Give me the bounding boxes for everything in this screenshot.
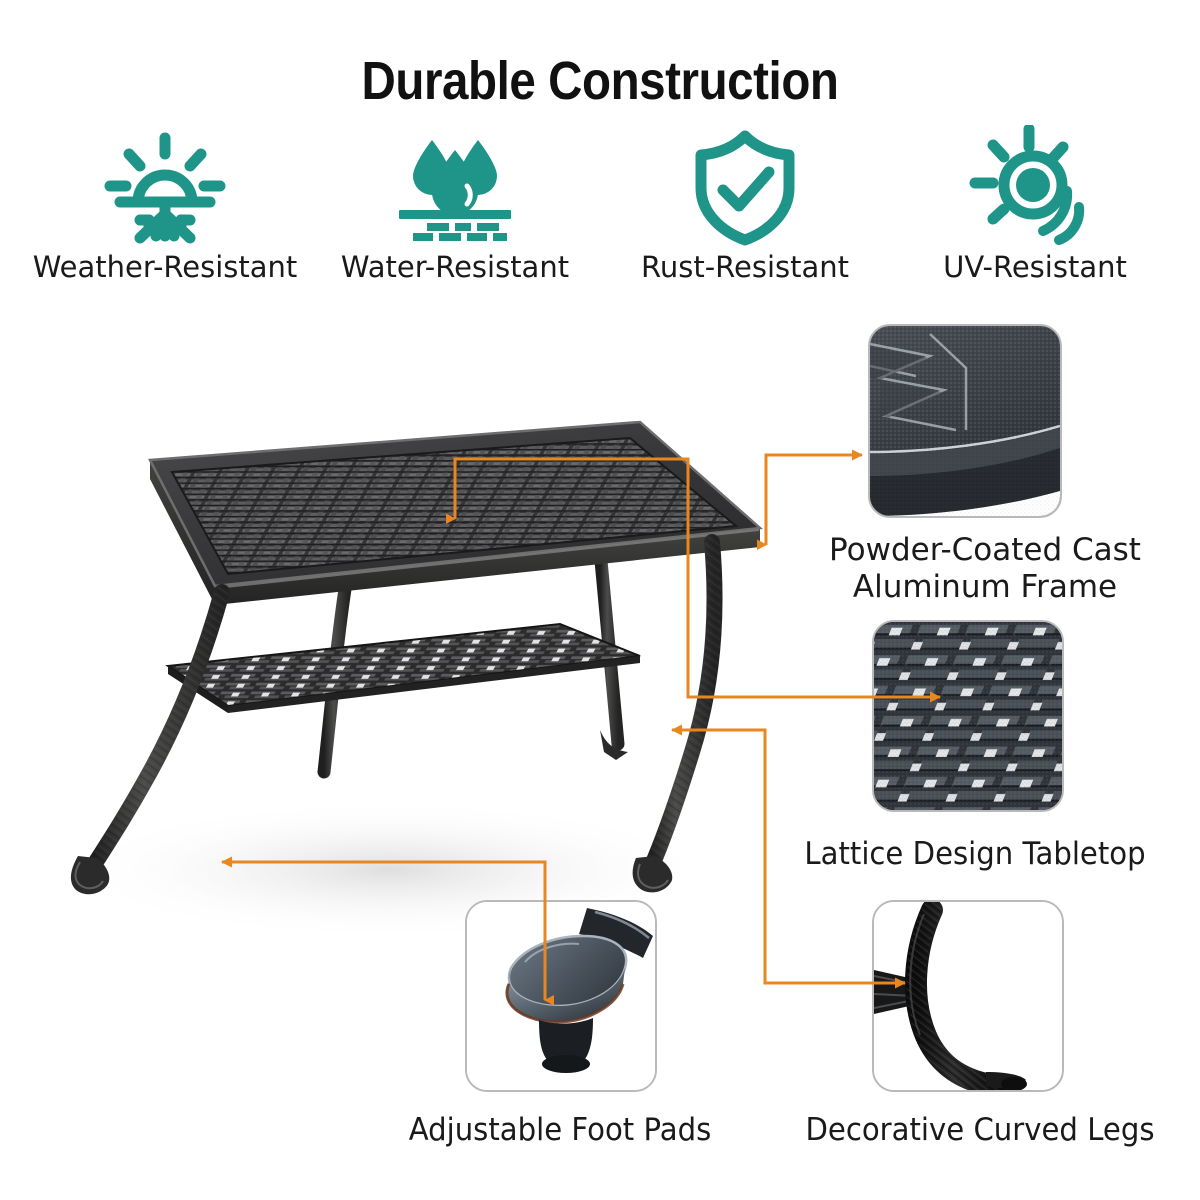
photo-lattice-tabletop xyxy=(872,620,1064,812)
feature-badge-row: Weather-Resistant xyxy=(20,128,1180,298)
feature-label: UV-Resistant xyxy=(943,250,1127,284)
caption-lattice-tabletop: Lattice Design Tabletop xyxy=(773,836,1177,873)
feature-label: Rust-Resistant xyxy=(641,250,849,284)
caption-curved-legs: Decorative Curved Legs xyxy=(783,1112,1178,1149)
sun-snowflake-icon xyxy=(102,128,228,246)
caption-adjustable-foot-pads: Adjustable Foot Pads xyxy=(381,1112,738,1149)
feature-rust-resistant: Rust-Resistant xyxy=(600,128,890,284)
sun-rays-waves-icon xyxy=(967,128,1103,246)
shield-check-icon xyxy=(689,128,801,246)
caption-powder-coated-frame: Powder-Coated Cast Aluminum Frame xyxy=(790,532,1180,605)
feature-uv-resistant: UV-Resistant xyxy=(890,128,1180,284)
product-photo-main xyxy=(0,400,800,960)
feature-label: Weather-Resistant xyxy=(33,250,298,284)
photo-powder-coated-frame xyxy=(868,324,1062,518)
infographic-page: Durable Construction xyxy=(0,0,1200,1200)
feature-label: Water-Resistant xyxy=(341,250,569,284)
photo-adjustable-foot-pad xyxy=(465,900,657,1092)
feature-water-resistant: Water-Resistant xyxy=(310,128,600,284)
photo-curved-leg xyxy=(872,900,1064,1092)
page-title: Durable Construction xyxy=(72,50,1128,112)
water-droplets-layers-icon xyxy=(385,128,525,246)
feature-weather-resistant: Weather-Resistant xyxy=(20,128,310,284)
lower-shelf xyxy=(150,615,670,720)
tabletop xyxy=(150,422,760,605)
